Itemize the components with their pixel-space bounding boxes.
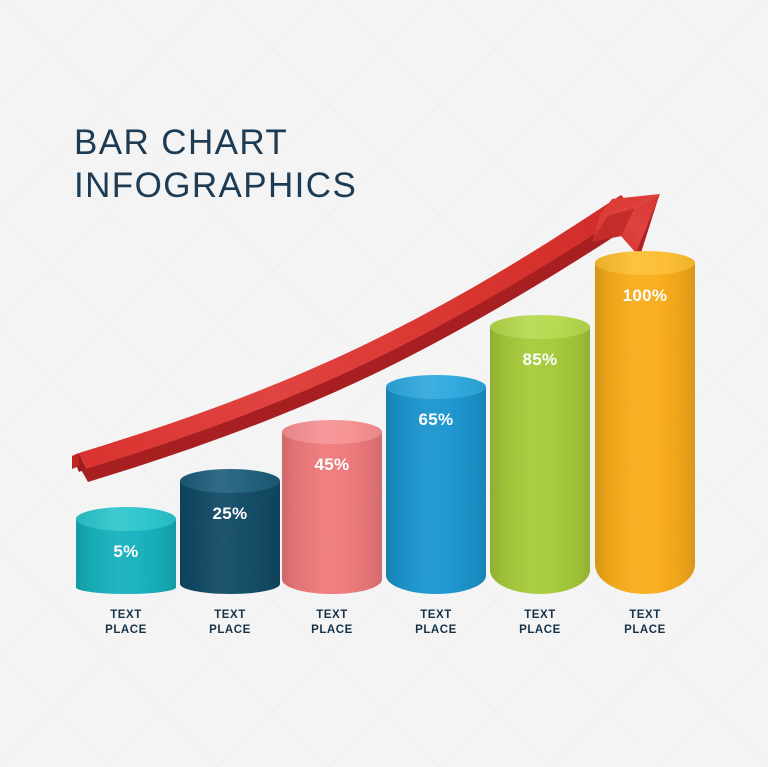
bar-1-caption: TEXT PLACE — [76, 608, 176, 637]
bar-2-value-label: 25% — [180, 504, 280, 524]
bar-5-caption: TEXT PLACE — [490, 608, 590, 637]
bar-group-5[interactable]: 85% TEXT PLACE — [490, 0, 590, 767]
bar-2-top-cap — [180, 469, 280, 493]
bar-4-value-label: 65% — [386, 410, 486, 430]
bar-6-top-cap — [595, 251, 695, 275]
bar-5-top-cap — [490, 315, 590, 339]
bar-6-body — [595, 263, 695, 594]
bar-6-caption: TEXT PLACE — [595, 608, 695, 637]
bar-3[interactable]: 45% — [282, 432, 382, 594]
bar-3-top-cap — [282, 420, 382, 444]
bar-group-3[interactable]: 45% TEXT PLACE — [282, 0, 382, 767]
bar-3-value-label: 45% — [282, 455, 382, 475]
bar-4-caption: TEXT PLACE — [386, 608, 486, 637]
bar-1-top-cap — [76, 507, 176, 531]
bar-group-4[interactable]: 65% TEXT PLACE — [386, 0, 486, 767]
bar-5[interactable]: 85% — [490, 327, 590, 594]
bar-6[interactable]: 100% — [595, 263, 695, 594]
title-line-1: BAR CHART — [74, 121, 357, 164]
bar-6-value-label: 100% — [595, 286, 695, 306]
bar-group-6[interactable]: 100% TEXT PLACE — [595, 0, 695, 767]
page-title: BAR CHART INFOGRAPHICS — [74, 121, 357, 207]
bar-chart: 5% TEXT PLACE 25% TEXT PLACE 45% TEXT PL… — [0, 0, 768, 767]
bar-2-caption: TEXT PLACE — [180, 608, 280, 637]
bar-5-value-label: 85% — [490, 350, 590, 370]
title-line-2: INFOGRAPHICS — [74, 164, 357, 207]
bar-4[interactable]: 65% — [386, 387, 486, 594]
infographic-canvas: BAR CHART INFOGRAPHICS — [0, 0, 768, 767]
bar-group-2[interactable]: 25% TEXT PLACE — [180, 0, 280, 767]
bar-1[interactable]: 5% — [76, 519, 176, 594]
bar-1-value-label: 5% — [76, 542, 176, 562]
bar-2-body — [180, 481, 280, 594]
bar-4-top-cap — [386, 375, 486, 399]
bar-3-caption: TEXT PLACE — [282, 608, 382, 637]
bar-2[interactable]: 25% — [180, 481, 280, 594]
bar-group-1[interactable]: 5% TEXT PLACE — [76, 0, 176, 767]
